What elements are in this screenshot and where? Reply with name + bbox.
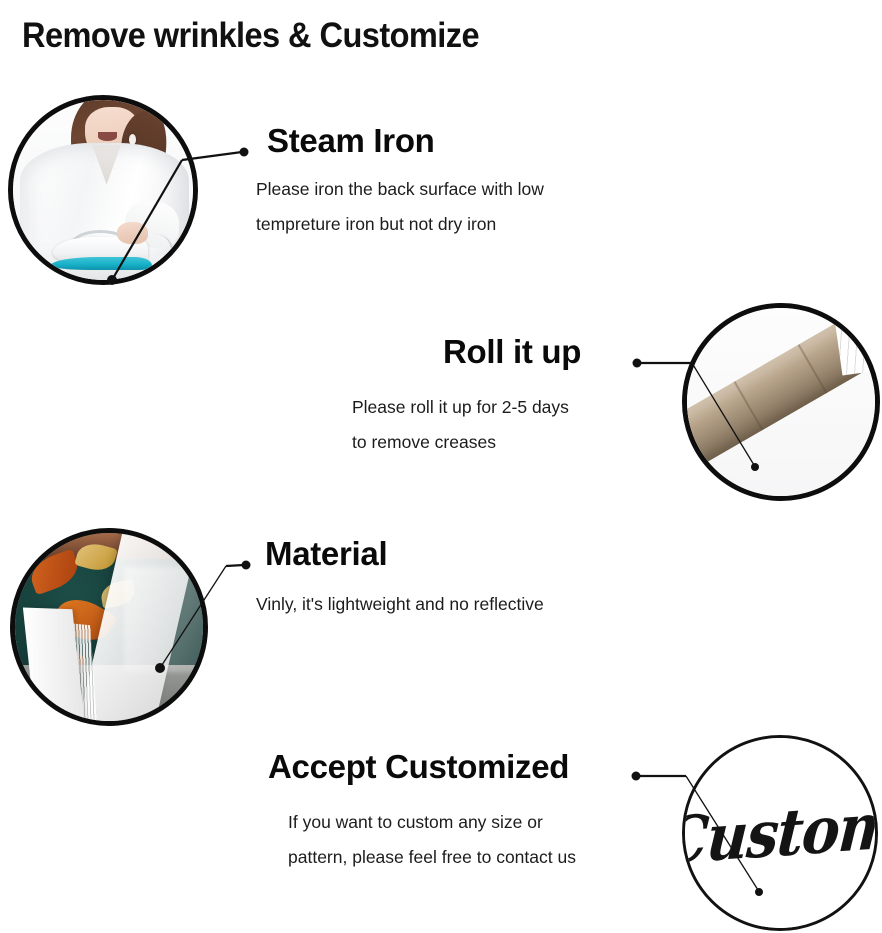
roll-it-up-body-line-2: to remove creases (352, 425, 569, 460)
roll-it-up-leader-line (630, 355, 760, 485)
infographic-page: Remove wrinkles & Customize Steam Iron P… (0, 0, 882, 933)
accept-customized-body: If you want to custom any size or patter… (288, 805, 576, 875)
accept-customized-heading: Accept Customized (268, 748, 569, 786)
tube-seam-shape (798, 344, 828, 394)
roll-it-up-body-line-1: Please roll it up for 2-5 days (352, 390, 569, 425)
material-heading: Material (265, 535, 387, 573)
steam-iron-body-line-1: Please iron the back surface with low (256, 172, 544, 207)
material-body-line-1: Vinly, it's lightweight and no reflectiv… (256, 587, 544, 622)
accept-customized-body-line-1: If you want to custom any size or (288, 805, 576, 840)
material-leader-line (118, 548, 263, 688)
accept-customized-body-line-2: pattern, please feel free to contact us (288, 840, 576, 875)
steam-iron-body-line-2: tempreture iron but not dry iron (256, 207, 544, 242)
roll-it-up-heading: Roll it up (443, 333, 581, 371)
steam-iron-leader-line (90, 140, 260, 290)
material-body: Vinly, it's lightweight and no reflectiv… (256, 587, 544, 622)
page-title: Remove wrinkles & Customize (22, 16, 479, 56)
steam-iron-body: Please iron the back surface with low te… (256, 172, 544, 242)
steam-iron-heading: Steam Iron (267, 122, 435, 160)
accept-customized-leader-line (628, 768, 768, 908)
roll-it-up-body: Please roll it up for 2-5 days to remove… (352, 390, 569, 460)
